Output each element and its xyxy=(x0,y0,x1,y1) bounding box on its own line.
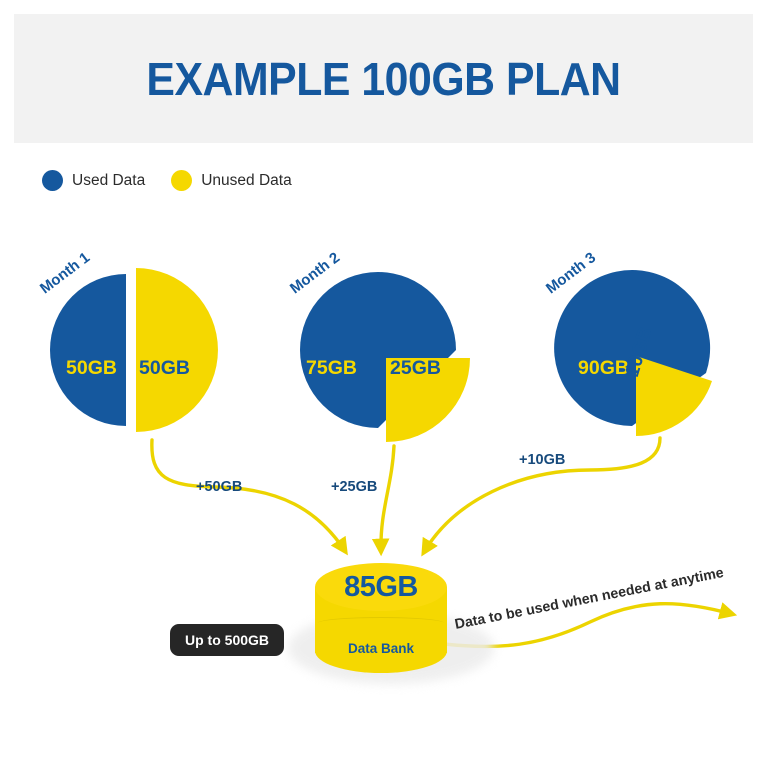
data-bank-caption: Data Bank xyxy=(315,641,447,656)
slice-value-used-month-2: 75GB xyxy=(306,357,357,380)
arrow-month-1-to-bank xyxy=(152,440,345,551)
slice-value-used-month-1: 50GB xyxy=(66,357,117,380)
max-capacity-badge: Up to 500GB xyxy=(170,624,284,656)
infographic-canvas: EXAMPLE 100GB PLAN Used Data Unused Data xyxy=(0,0,768,768)
data-bank-divider xyxy=(318,617,444,629)
contribution-label-month-3: +10GB xyxy=(519,452,565,468)
data-bank-cylinder: 85GB Data Bank xyxy=(315,563,447,673)
arrow-month-2-to-bank xyxy=(381,446,394,551)
pie-slice-unused-month-1 xyxy=(136,268,218,432)
pie-slice-used-month-1 xyxy=(50,274,126,426)
contribution-label-month-2: +25GB xyxy=(331,479,377,495)
slice-value-unused-month-1: 50GB xyxy=(139,357,190,380)
pie-month-1 xyxy=(50,268,218,432)
contribution-label-month-1: +50GB xyxy=(196,479,242,495)
slice-value-unused-month-2: 25GB xyxy=(390,357,441,380)
data-bank-amount: 85GB xyxy=(315,571,447,604)
